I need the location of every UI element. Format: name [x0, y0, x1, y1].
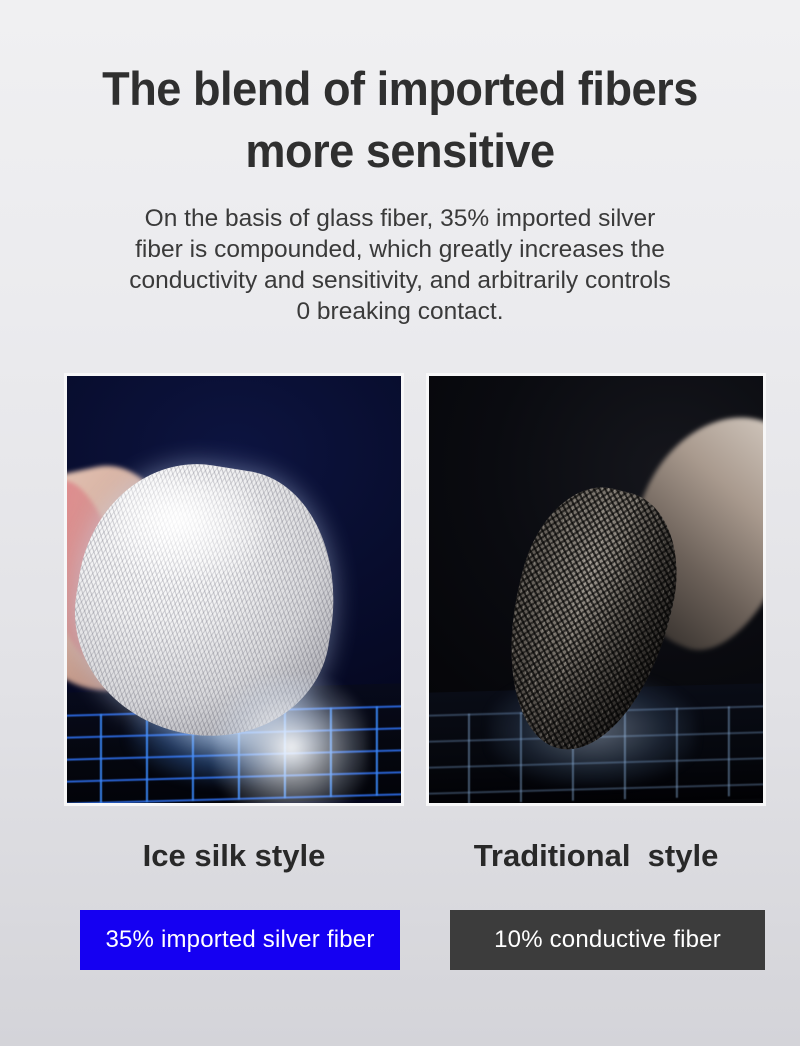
badge-conductive-fiber-label: 10% conductive fiber [494, 926, 721, 954]
paragraph-line-1: On the basis of glass fiber, 35% importe… [70, 203, 730, 234]
description-paragraph: On the basis of glass fiber, 35% importe… [70, 203, 730, 327]
badge-conductive-fiber: 10% conductive fiber [450, 910, 765, 970]
photo-panel-ice-silk [64, 373, 404, 806]
paragraph-line-3: conductivity and sensitivity, and arbitr… [70, 265, 730, 296]
ice-silk-photo [67, 376, 401, 803]
badge-silver-fiber-label: 35% imported silver fiber [105, 926, 374, 954]
caption-traditional: Traditional style [426, 832, 766, 880]
sleeve-tip-glow [214, 675, 368, 803]
caption-ice-silk: Ice silk style [64, 832, 404, 880]
headline-line-2: more sensitive [16, 120, 784, 182]
comparison-photo-row [0, 373, 800, 806]
page-headline: The blend of imported fibers more sensit… [16, 58, 784, 182]
badge-silver-fiber: 35% imported silver fiber [80, 910, 400, 970]
paragraph-line-2: fiber is compounded, which greatly incre… [70, 234, 730, 265]
headline-line-1: The blend of imported fibers [102, 62, 698, 115]
traditional-photo [429, 376, 763, 803]
photo-panel-traditional [426, 373, 766, 806]
paragraph-line-4: 0 breaking contact. [70, 296, 730, 327]
